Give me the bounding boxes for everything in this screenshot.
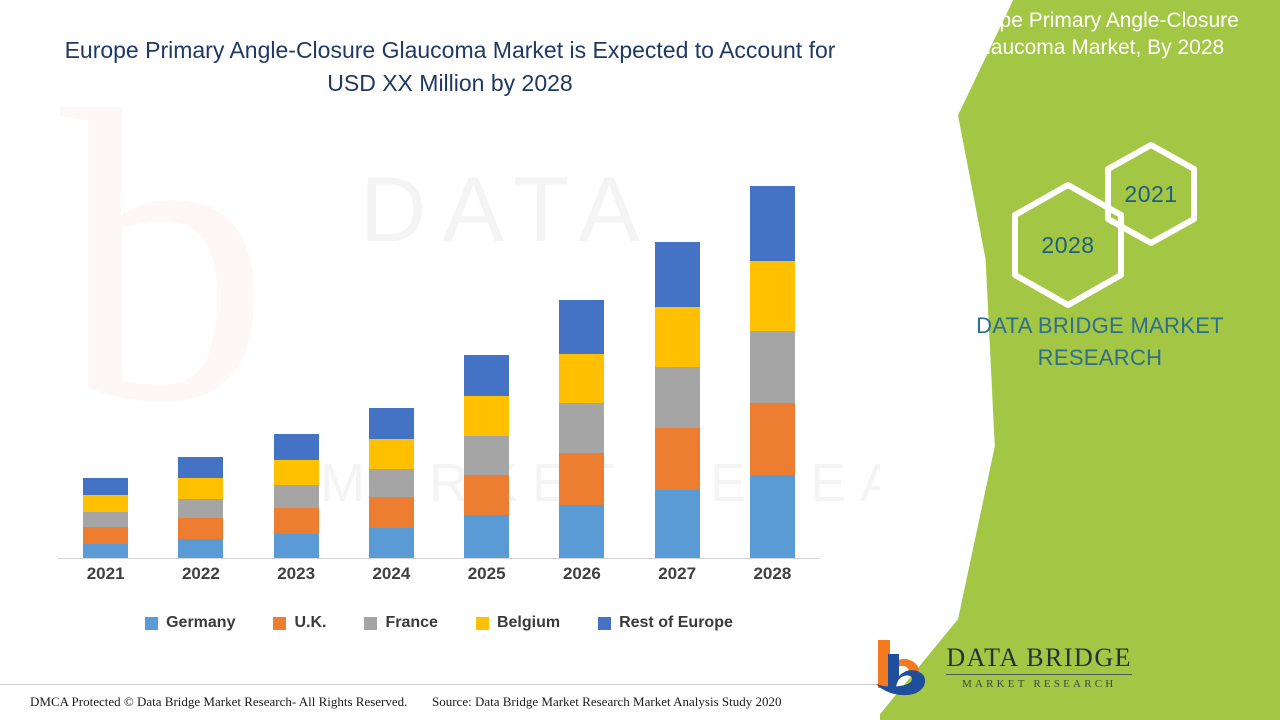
stacked-bar bbox=[750, 186, 795, 558]
chart-panel: b DATA BRIDGE MARKET RESEARCH Europe Pri… bbox=[0, 0, 880, 720]
footer-dmca-text: DMCA Protected © Data Bridge Market Rese… bbox=[30, 694, 407, 710]
hexagon-2021-label: 2021 bbox=[1124, 181, 1177, 208]
legend-label: France bbox=[385, 614, 437, 632]
bar-column bbox=[254, 160, 338, 558]
legend-swatch-icon bbox=[145, 617, 158, 630]
bar-segment-rest-of-europe bbox=[274, 434, 319, 460]
legend-swatch-icon bbox=[364, 617, 377, 630]
bar-column bbox=[445, 160, 529, 558]
legend-label: U.K. bbox=[294, 614, 326, 632]
logo-text-block: DATA BRIDGE MARKET RESEARCH bbox=[946, 645, 1132, 690]
legend-swatch-icon bbox=[273, 617, 286, 630]
bar-segment-belgium bbox=[274, 460, 319, 485]
bar-column bbox=[635, 160, 719, 558]
stacked-bar bbox=[559, 300, 604, 558]
bar-segment-u-k- bbox=[274, 508, 319, 534]
bar-segment-belgium bbox=[655, 307, 700, 367]
stacked-bar bbox=[178, 457, 223, 558]
hexagon-2028-label: 2028 bbox=[1041, 232, 1094, 259]
bar-segment-u-k- bbox=[559, 453, 604, 505]
bar-segment-france bbox=[369, 469, 414, 497]
x-axis-line bbox=[58, 558, 820, 559]
bar-column bbox=[349, 160, 433, 558]
footer-source-text: Source: Data Bridge Market Research Mark… bbox=[432, 694, 781, 710]
bar-segment-u-k- bbox=[464, 475, 509, 515]
legend-item-belgium[interactable]: Belgium bbox=[476, 614, 560, 632]
stacked-bar bbox=[655, 242, 700, 558]
legend-item-u-k-[interactable]: U.K. bbox=[273, 614, 326, 632]
bar-segment-germany bbox=[178, 539, 223, 558]
panel-brand-name: DATA BRIDGE MARKET RESEARCH bbox=[950, 310, 1250, 374]
bar-segment-belgium bbox=[559, 354, 604, 403]
bar-column bbox=[159, 160, 243, 558]
bar-segment-belgium bbox=[464, 396, 509, 436]
stacked-bar bbox=[464, 355, 509, 558]
bar-segment-rest-of-europe bbox=[83, 478, 128, 495]
legend-swatch-icon bbox=[598, 617, 611, 630]
bar-segment-u-k- bbox=[83, 527, 128, 544]
x-axis-tick-labels: 20212022202320242025202620272028 bbox=[58, 564, 820, 584]
bar-segment-rest-of-europe bbox=[750, 186, 795, 261]
bar-segment-germany bbox=[369, 528, 414, 558]
logo-mark-icon bbox=[866, 636, 936, 698]
bar-segment-france bbox=[274, 485, 319, 508]
bar-segment-germany bbox=[655, 490, 700, 558]
bar-column bbox=[64, 160, 148, 558]
stacked-bar bbox=[369, 408, 414, 558]
bar-segment-germany bbox=[274, 534, 319, 558]
bar-segment-germany bbox=[83, 544, 128, 558]
bar-column bbox=[540, 160, 624, 558]
bar-segment-rest-of-europe bbox=[369, 408, 414, 439]
bar-segment-rest-of-europe bbox=[559, 300, 604, 354]
legend-item-germany[interactable]: Germany bbox=[145, 614, 235, 632]
chart-plot-area bbox=[58, 160, 820, 558]
legend-swatch-icon bbox=[476, 617, 489, 630]
bar-segment-france bbox=[464, 436, 509, 475]
x-axis-label: 2022 bbox=[159, 564, 243, 584]
bar-segment-france bbox=[178, 499, 223, 518]
legend-label: Germany bbox=[166, 614, 235, 632]
bar-segment-u-k- bbox=[750, 403, 795, 475]
hexagon-2028: 2028 bbox=[1008, 180, 1128, 310]
x-axis-label: 2024 bbox=[349, 564, 433, 584]
bar-segment-france bbox=[559, 403, 604, 453]
x-axis-label: 2027 bbox=[635, 564, 719, 584]
bar-segment-germany bbox=[750, 475, 795, 558]
data-bridge-logo: DATA BRIDGE MARKET RESEARCH bbox=[866, 636, 1132, 698]
bar-segment-belgium bbox=[369, 439, 414, 469]
bar-column bbox=[730, 160, 814, 558]
legend-item-rest-of-europe[interactable]: Rest of Europe bbox=[598, 614, 733, 632]
bar-segment-france bbox=[655, 367, 700, 428]
bar-segment-france bbox=[83, 512, 128, 527]
panel-header-title: Europe Primary Angle-Closure Glaucoma Ma… bbox=[922, 8, 1272, 62]
x-axis-label: 2021 bbox=[64, 564, 148, 584]
legend-label: Belgium bbox=[497, 614, 560, 632]
bar-segment-france bbox=[750, 331, 795, 403]
bar-segment-belgium bbox=[750, 261, 795, 331]
bar-segment-belgium bbox=[83, 495, 128, 512]
footer-bar: DMCA Protected © Data Bridge Market Rese… bbox=[0, 684, 880, 720]
x-axis-label: 2025 bbox=[445, 564, 529, 584]
legend-item-france[interactable]: France bbox=[364, 614, 437, 632]
stacked-bar-chart: 20212022202320242025202620272028 bbox=[58, 160, 820, 558]
x-axis-label: 2028 bbox=[730, 564, 814, 584]
page-title: Europe Primary Angle-Closure Glaucoma Ma… bbox=[60, 34, 840, 99]
bar-segment-u-k- bbox=[369, 497, 414, 528]
chart-legend: GermanyU.K.FranceBelgiumRest of Europe bbox=[58, 614, 820, 632]
bar-segment-rest-of-europe bbox=[464, 355, 509, 396]
x-axis-label: 2023 bbox=[254, 564, 338, 584]
bar-segment-u-k- bbox=[178, 518, 223, 539]
stacked-bar bbox=[83, 478, 128, 558]
bar-segment-rest-of-europe bbox=[655, 242, 700, 307]
legend-label: Rest of Europe bbox=[619, 614, 733, 632]
bar-segment-u-k- bbox=[655, 428, 700, 490]
bar-segment-germany bbox=[464, 515, 509, 558]
bar-segment-germany bbox=[559, 505, 604, 558]
bar-segment-rest-of-europe bbox=[178, 457, 223, 478]
logo-subtitle: MARKET RESEARCH bbox=[946, 679, 1132, 690]
stacked-bar bbox=[274, 434, 319, 558]
x-axis-label: 2026 bbox=[540, 564, 624, 584]
hexagon-group: 2021 2028 bbox=[990, 140, 1200, 305]
logo-title: DATA BRIDGE bbox=[946, 645, 1132, 675]
bar-segment-belgium bbox=[178, 478, 223, 499]
